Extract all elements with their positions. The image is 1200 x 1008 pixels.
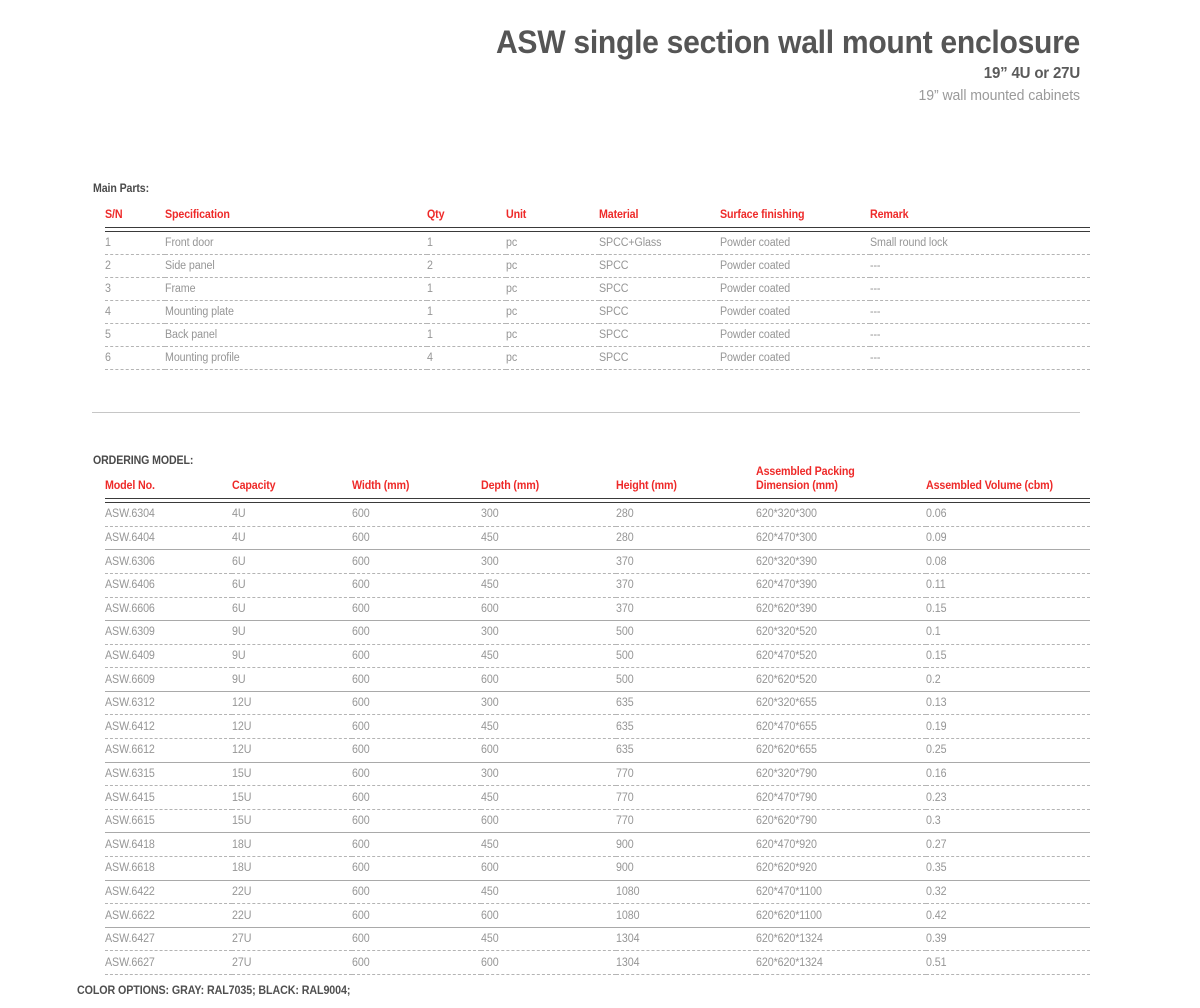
ordering-model-table: Model No. Capacity Width (mm) Depth (mm)… xyxy=(105,466,1090,975)
table-cell: 5 xyxy=(105,323,165,346)
page-subtitle-1: 19” 4U or 27U xyxy=(65,65,1080,83)
table-cell: 600 xyxy=(352,857,481,881)
col-header-material: Material xyxy=(599,209,720,227)
table-cell: 600 xyxy=(352,526,481,550)
table-cell: 12U xyxy=(232,739,352,763)
table-cell: pc xyxy=(506,254,599,277)
table-cell: 620*620*390 xyxy=(756,597,926,621)
table-cell: 450 xyxy=(481,927,616,951)
table-cell: 6 xyxy=(105,346,165,369)
table-cell: 600 xyxy=(352,621,481,645)
table-cell: 620*620*1100 xyxy=(756,904,926,928)
table-cell: 600 xyxy=(352,691,481,715)
table-cell: 600 xyxy=(481,739,616,763)
table-cell: 600 xyxy=(481,857,616,881)
table-cell: 0.15 xyxy=(926,597,1090,621)
table-cell: 620*620*790 xyxy=(756,809,926,833)
table-cell: 620*470*920 xyxy=(756,833,926,857)
col-header-surface-finishing: Surface finishing xyxy=(720,209,870,227)
table-cell: 0.3 xyxy=(926,809,1090,833)
table-cell: 0.06 xyxy=(926,503,1090,527)
table-cell: 620*320*300 xyxy=(756,503,926,527)
table-cell: 450 xyxy=(481,786,616,810)
table-cell: 600 xyxy=(481,668,616,692)
table-cell: --- xyxy=(870,323,1090,346)
table-cell: 600 xyxy=(352,762,481,786)
table-cell: 600 xyxy=(352,715,481,739)
ordering-model-header-row: Model No. Capacity Width (mm) Depth (mm)… xyxy=(105,466,1090,499)
col-header-capacity: Capacity xyxy=(232,466,352,499)
table-cell: 0.09 xyxy=(926,526,1090,550)
table-cell: 9U xyxy=(232,644,352,668)
table-cell: ASW.6609 xyxy=(105,668,232,692)
col-header-qty: Qty xyxy=(427,209,506,227)
main-parts-header-row: S/N Specification Qty Unit Material Surf… xyxy=(105,209,1090,227)
table-cell: --- xyxy=(870,346,1090,369)
table-cell: 1080 xyxy=(616,904,756,928)
col-header-height: Height (mm) xyxy=(616,466,756,499)
table-cell: 620*470*390 xyxy=(756,573,926,597)
table-cell: 635 xyxy=(616,739,756,763)
table-row: 3Frame1pcSPCCPowder coated--- xyxy=(105,277,1090,300)
table-cell: pc xyxy=(506,231,599,254)
table-cell: 600 xyxy=(352,644,481,668)
table-cell: Powder coated xyxy=(720,277,870,300)
table-cell: 900 xyxy=(616,857,756,881)
table-cell: 600 xyxy=(352,880,481,904)
table-cell: 15U xyxy=(232,786,352,810)
table-cell: 770 xyxy=(616,786,756,810)
table-cell: Side panel xyxy=(165,254,427,277)
table-cell: ASW.6409 xyxy=(105,644,232,668)
table-cell: pc xyxy=(506,300,599,323)
table-cell: 370 xyxy=(616,597,756,621)
table-cell: 6U xyxy=(232,550,352,574)
table-cell: 620*620*920 xyxy=(756,857,926,881)
table-row: ASW.66099U600600500620*620*5200.2 xyxy=(105,668,1090,692)
table-cell: 1304 xyxy=(616,927,756,951)
table-cell: Small round lock xyxy=(870,231,1090,254)
table-row: ASW.63044U600300280620*320*3000.06 xyxy=(105,503,1090,527)
table-cell: 0.2 xyxy=(926,668,1090,692)
table-cell: 300 xyxy=(481,691,616,715)
table-cell: 600 xyxy=(352,573,481,597)
ordering-model-table-body: ASW.63044U600300280620*320*3000.06ASW.64… xyxy=(105,503,1090,975)
table-cell: 635 xyxy=(616,691,756,715)
table-cell: 450 xyxy=(481,880,616,904)
table-cell: pc xyxy=(506,323,599,346)
table-cell: 900 xyxy=(616,833,756,857)
table-cell: 450 xyxy=(481,644,616,668)
table-row: ASW.642727U6004501304620*620*13240.39 xyxy=(105,927,1090,951)
table-row: ASW.66066U600600370620*620*3900.15 xyxy=(105,597,1090,621)
section-divider xyxy=(92,412,1080,413)
table-cell: Powder coated xyxy=(720,323,870,346)
table-cell: ASW.6309 xyxy=(105,621,232,645)
table-cell: ASW.6418 xyxy=(105,833,232,857)
table-cell: 27U xyxy=(232,951,352,975)
table-cell: 15U xyxy=(232,809,352,833)
table-cell: 12U xyxy=(232,691,352,715)
table-row: ASW.63066U600300370620*320*3900.08 xyxy=(105,550,1090,574)
table-cell: 0.39 xyxy=(926,927,1090,951)
table-cell: 600 xyxy=(352,786,481,810)
table-cell: pc xyxy=(506,346,599,369)
table-cell: 15U xyxy=(232,762,352,786)
table-cell: Frame xyxy=(165,277,427,300)
table-row: ASW.662727U6006001304620*620*13240.51 xyxy=(105,951,1090,975)
table-cell: 22U xyxy=(232,904,352,928)
page-title: ASW single section wall mount enclosure xyxy=(65,26,1080,60)
table-cell: 450 xyxy=(481,573,616,597)
main-parts-table-body: 1Front door1pcSPCC+GlassPowder coatedSma… xyxy=(105,231,1090,369)
table-cell: 500 xyxy=(616,621,756,645)
table-cell: 4 xyxy=(105,300,165,323)
table-cell: 2 xyxy=(105,254,165,277)
table-cell: ASW.6304 xyxy=(105,503,232,527)
table-cell: 0.42 xyxy=(926,904,1090,928)
table-cell: 620*470*520 xyxy=(756,644,926,668)
table-cell: 0.27 xyxy=(926,833,1090,857)
table-cell: 600 xyxy=(481,809,616,833)
table-cell: 0.11 xyxy=(926,573,1090,597)
col-header-width: Width (mm) xyxy=(352,466,481,499)
table-cell: ASW.6422 xyxy=(105,880,232,904)
table-cell: 0.32 xyxy=(926,880,1090,904)
table-cell: 1 xyxy=(427,323,506,346)
table-cell: 600 xyxy=(352,809,481,833)
table-row: ASW.64066U600450370620*470*3900.11 xyxy=(105,573,1090,597)
table-row: 1Front door1pcSPCC+GlassPowder coatedSma… xyxy=(105,231,1090,254)
table-row: ASW.631515U600300770620*320*7900.16 xyxy=(105,762,1090,786)
table-cell: 300 xyxy=(481,503,616,527)
table-cell: 620*620*655 xyxy=(756,739,926,763)
table-cell: ASW.6315 xyxy=(105,762,232,786)
table-cell: 0.19 xyxy=(926,715,1090,739)
table-row: ASW.63099U600300500620*320*5200.1 xyxy=(105,621,1090,645)
table-cell: 4U xyxy=(232,526,352,550)
table-cell: Powder coated xyxy=(720,346,870,369)
col-header-assembled-packing-dimension: Assembled Packing Dimension (mm) xyxy=(756,466,926,499)
table-cell: 18U xyxy=(232,857,352,881)
table-cell: 2 xyxy=(427,254,506,277)
table-cell: Powder coated xyxy=(720,254,870,277)
table-cell: ASW.6627 xyxy=(105,951,232,975)
table-cell: 280 xyxy=(616,503,756,527)
table-cell: ASW.6415 xyxy=(105,786,232,810)
table-cell: 280 xyxy=(616,526,756,550)
table-cell: 27U xyxy=(232,927,352,951)
table-cell: 620*620*1324 xyxy=(756,951,926,975)
main-parts-table-header: S/N Specification Qty Unit Material Surf… xyxy=(105,209,1090,231)
col-header-remark: Remark xyxy=(870,209,1090,227)
table-row: ASW.661818U600600900620*620*9200.35 xyxy=(105,857,1090,881)
table-row: ASW.631212U600300635620*320*6550.13 xyxy=(105,691,1090,715)
table-cell: ASW.6612 xyxy=(105,739,232,763)
table-cell: 600 xyxy=(352,503,481,527)
table-cell: --- xyxy=(870,277,1090,300)
table-cell: SPCC xyxy=(599,277,720,300)
table-cell: SPCC xyxy=(599,346,720,369)
main-parts-section-label: Main Parts: xyxy=(93,183,149,195)
table-cell: 1 xyxy=(105,231,165,254)
table-cell: 600 xyxy=(481,904,616,928)
table-cell: 0.25 xyxy=(926,739,1090,763)
table-cell: 620*320*390 xyxy=(756,550,926,574)
table-cell: 6U xyxy=(232,597,352,621)
table-row: 4Mounting plate1pcSPCCPowder coated--- xyxy=(105,300,1090,323)
table-cell: 0.16 xyxy=(926,762,1090,786)
table-cell: 22U xyxy=(232,880,352,904)
col-header-assembled-volume: Assembled Volume (cbm) xyxy=(926,466,1090,499)
table-cell: Powder coated xyxy=(720,231,870,254)
table-cell: SPCC xyxy=(599,323,720,346)
table-cell: 600 xyxy=(352,550,481,574)
table-cell: ASW.6622 xyxy=(105,904,232,928)
table-cell: 0.1 xyxy=(926,621,1090,645)
table-row: ASW.661515U600600770620*620*7900.3 xyxy=(105,809,1090,833)
table-cell: 1080 xyxy=(616,880,756,904)
table-cell: 6U xyxy=(232,573,352,597)
table-row: 2Side panel2pcSPCCPowder coated--- xyxy=(105,254,1090,277)
page-header: ASW single section wall mount enclosure … xyxy=(0,0,1200,104)
color-options-footer: COLOR OPTIONS: GRAY: RAL7035; BLACK: RAL… xyxy=(77,985,371,997)
table-cell: 600 xyxy=(352,668,481,692)
table-row: ASW.662222U6006001080620*620*11000.42 xyxy=(105,904,1090,928)
col-header-unit: Unit xyxy=(506,209,599,227)
col-header-depth: Depth (mm) xyxy=(481,466,616,499)
table-cell: 600 xyxy=(352,739,481,763)
table-cell: ASW.6618 xyxy=(105,857,232,881)
table-cell: 450 xyxy=(481,715,616,739)
table-row: 6Mounting profile4pcSPCCPowder coated--- xyxy=(105,346,1090,369)
table-cell: 635 xyxy=(616,715,756,739)
table-cell: ASW.6404 xyxy=(105,526,232,550)
table-cell: 600 xyxy=(481,597,616,621)
ordering-model-table-header: Model No. Capacity Width (mm) Depth (mm)… xyxy=(105,466,1090,503)
table-cell: 600 xyxy=(352,904,481,928)
table-row: ASW.661212U600600635620*620*6550.25 xyxy=(105,739,1090,763)
col-header-model-no: Model No. xyxy=(105,466,232,499)
col-header-sn: S/N xyxy=(105,209,165,227)
table-cell: 9U xyxy=(232,668,352,692)
table-cell: 620*320*655 xyxy=(756,691,926,715)
col-header-specification: Specification xyxy=(165,209,427,227)
page-subtitle-2: 19” wall mounted cabinets xyxy=(65,87,1080,104)
table-cell: --- xyxy=(870,300,1090,323)
table-cell: 9U xyxy=(232,621,352,645)
table-cell: 4U xyxy=(232,503,352,527)
table-row: ASW.641818U600450900620*470*9200.27 xyxy=(105,833,1090,857)
table-cell: 0.15 xyxy=(926,644,1090,668)
table-cell: 620*470*1100 xyxy=(756,880,926,904)
table-cell: SPCC xyxy=(599,254,720,277)
table-cell: --- xyxy=(870,254,1090,277)
table-cell: 4 xyxy=(427,346,506,369)
table-cell: pc xyxy=(506,277,599,300)
table-cell: Powder coated xyxy=(720,300,870,323)
table-cell: 500 xyxy=(616,644,756,668)
table-cell: 450 xyxy=(481,526,616,550)
table-cell: 600 xyxy=(352,833,481,857)
table-cell: Back panel xyxy=(165,323,427,346)
table-row: ASW.641515U600450770620*470*7900.23 xyxy=(105,786,1090,810)
table-cell: 620*470*790 xyxy=(756,786,926,810)
table-cell: 370 xyxy=(616,550,756,574)
table-cell: 0.23 xyxy=(926,786,1090,810)
table-cell: ASW.6427 xyxy=(105,927,232,951)
table-cell: 620*470*655 xyxy=(756,715,926,739)
table-cell: SPCC xyxy=(599,300,720,323)
table-cell: 0.08 xyxy=(926,550,1090,574)
table-cell: ASW.6615 xyxy=(105,809,232,833)
table-cell: 600 xyxy=(352,597,481,621)
table-cell: 620*470*300 xyxy=(756,526,926,550)
table-cell: ASW.6406 xyxy=(105,573,232,597)
table-cell: ASW.6412 xyxy=(105,715,232,739)
table-cell: 620*620*520 xyxy=(756,668,926,692)
table-cell: SPCC+Glass xyxy=(599,231,720,254)
table-cell: 18U xyxy=(232,833,352,857)
table-cell: ASW.6306 xyxy=(105,550,232,574)
table-cell: 300 xyxy=(481,550,616,574)
table-cell: ASW.6606 xyxy=(105,597,232,621)
table-cell: 600 xyxy=(481,951,616,975)
table-cell: 600 xyxy=(352,927,481,951)
table-cell: 0.35 xyxy=(926,857,1090,881)
table-cell: 0.51 xyxy=(926,951,1090,975)
table-cell: 1 xyxy=(427,300,506,323)
table-cell: Mounting plate xyxy=(165,300,427,323)
table-row: 5Back panel1pcSPCCPowder coated--- xyxy=(105,323,1090,346)
table-cell: 600 xyxy=(352,951,481,975)
table-cell: 620*320*790 xyxy=(756,762,926,786)
table-row: ASW.64044U600450280620*470*3000.09 xyxy=(105,526,1090,550)
table-row: ASW.64099U600450500620*470*5200.15 xyxy=(105,644,1090,668)
table-cell: 770 xyxy=(616,809,756,833)
table-cell: 370 xyxy=(616,573,756,597)
table-cell: 300 xyxy=(481,762,616,786)
table-cell: 0.13 xyxy=(926,691,1090,715)
table-cell: 300 xyxy=(481,621,616,645)
table-cell: Mounting profile xyxy=(165,346,427,369)
table-cell: 620*320*520 xyxy=(756,621,926,645)
main-parts-table: S/N Specification Qty Unit Material Surf… xyxy=(105,209,1090,370)
table-cell: 770 xyxy=(616,762,756,786)
table-cell: 1 xyxy=(427,231,506,254)
table-cell: 500 xyxy=(616,668,756,692)
table-cell: Front door xyxy=(165,231,427,254)
table-cell: 620*620*1324 xyxy=(756,927,926,951)
table-row: ASW.641212U600450635620*470*6550.19 xyxy=(105,715,1090,739)
table-cell: 3 xyxy=(105,277,165,300)
table-cell: 1304 xyxy=(616,951,756,975)
table-cell: 450 xyxy=(481,833,616,857)
table-cell: 1 xyxy=(427,277,506,300)
table-cell: 12U xyxy=(232,715,352,739)
table-row: ASW.642222U6004501080620*470*11000.32 xyxy=(105,880,1090,904)
table-cell: ASW.6312 xyxy=(105,691,232,715)
